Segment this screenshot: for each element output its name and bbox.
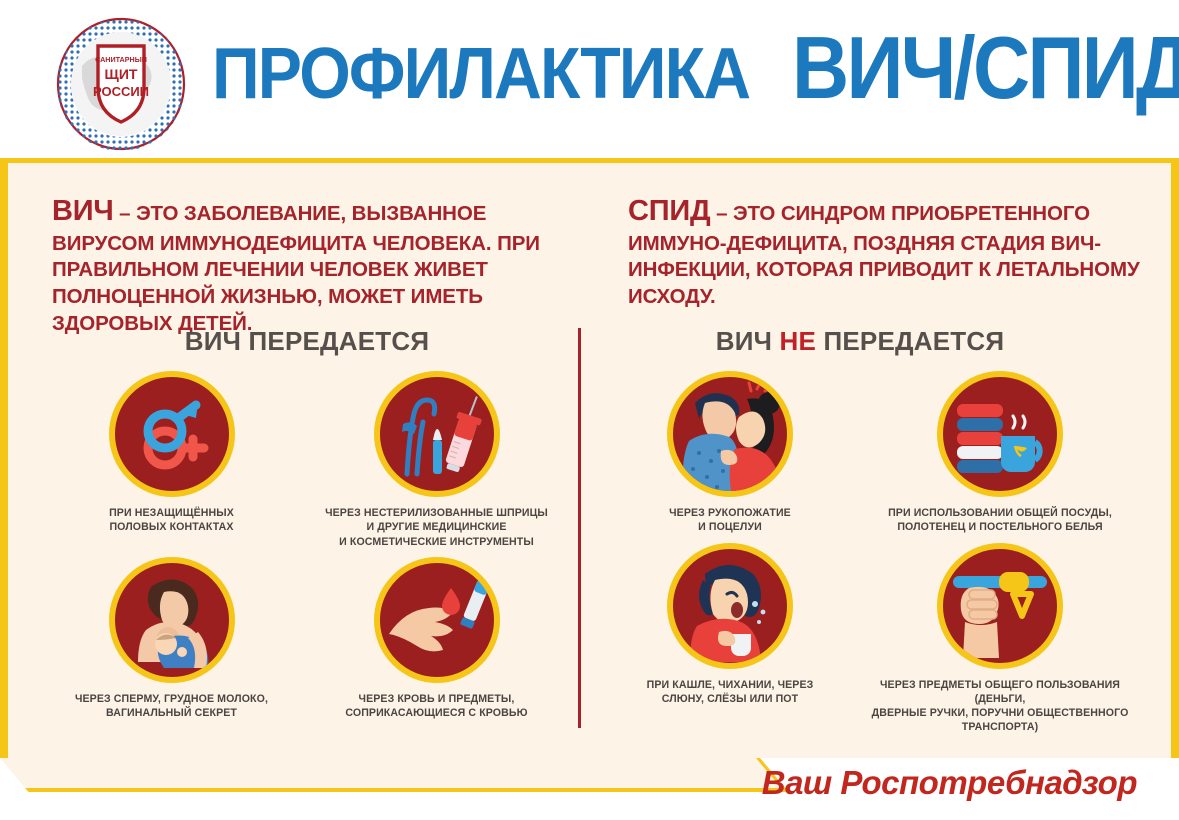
- list-item-caption: ПРИ ИСПОЛЬЗОВАНИИ ОБЩЕЙ ПОСУДЫ, ПОЛОТЕНЕ…: [888, 506, 1112, 535]
- svg-text:ЩИТ: ЩИТ: [105, 66, 138, 82]
- list-item: ЧЕРЕЗ СПЕРМУ, ГРУДНОЕ МОЛОКО, ВАГИНАЛЬНЫ…: [44, 557, 299, 721]
- transmitted-heading-label: ВИЧ ПЕРЕДАЕТСЯ: [185, 326, 429, 356]
- poster-footer: Ваш Роспотребнадзор: [0, 758, 1179, 820]
- medical-instruments-syringe-icon: [374, 371, 500, 497]
- list-item: ПРИ НЕЗАЩИЩЁННЫХ ПОЛОВЫХ КОНТАКТАХ: [44, 371, 299, 549]
- list-item-caption: ЧЕРЕЗ НЕСТЕРИЛИЗОВАННЫЕ ШПРИЦЫ И ДРУГИЕ …: [325, 506, 548, 549]
- page-title-part2: ВИЧ/СПИД: [792, 24, 1179, 112]
- breastfeeding-mother-icon: [109, 557, 235, 683]
- left-gold-bar: [0, 163, 8, 758]
- right-gold-bar: [1171, 163, 1179, 758]
- hiv-definition-text: – ЭТО ЗАБОЛЕВАНИЕ, ВЫЗВАННОЕ ВИРУСОМ ИММ…: [52, 202, 540, 335]
- not-transmitted-heading: ВИЧ НЕ ПЕРЕДАЕТСЯ: [600, 326, 1120, 357]
- not-transmitted-heading-before: ВИЧ: [716, 326, 780, 356]
- column-divider: [578, 328, 581, 728]
- hiv-definition: ВИЧ – ЭТО ЗАБОЛЕВАНИЕ, ВЫЗВАННОЕ ВИРУСОМ…: [52, 193, 572, 337]
- aids-definition-lead: СПИД: [628, 195, 711, 227]
- transmitted-items: ПРИ НЕЗАЩИЩЁННЫХ ПОЛОВЫХ КОНТАКТАХ: [44, 371, 564, 720]
- list-item-caption: ЧЕРЕЗ СПЕРМУ, ГРУДНОЕ МОЛОКО, ВАГИНАЛЬНЫ…: [75, 692, 268, 721]
- list-item-caption: ЧЕРЕЗ КРОВЬ И ПРЕДМЕТЫ, СОПРИКАСАЮЩИЕСЯ …: [345, 692, 527, 721]
- transmitted-heading: ВИЧ ПЕРЕДАЕТСЯ: [52, 326, 562, 357]
- dishes-towels-bedding-icon-cell: ПРИ ИСПОЛЬЗОВАНИИ ОБЩЕЙ ПОСУДЫ, ПОЛОТЕНЕ…: [870, 371, 1130, 535]
- poster-body: ВИЧ – ЭТО ЗАБОЛЕВАНИЕ, ВЫЗВАННОЕ ВИРУСОМ…: [0, 163, 1179, 758]
- svg-text:САНИТАРНЫЙ: САНИТАРНЫЙ: [95, 55, 147, 64]
- hiv-definition-lead: ВИЧ: [52, 195, 114, 227]
- aids-definition: СПИД – ЭТО СИНДРОМ ПРИОБРЕТЕННОГО ИММУНО…: [628, 193, 1148, 311]
- list-item: ЧЕРЕЗ КРОВЬ И ПРЕДМЕТЫ, СОПРИКАСАЮЩИЕСЯ …: [309, 557, 564, 721]
- not-transmitted-heading-after: ПЕРЕДАЕТСЯ: [816, 326, 1004, 356]
- gender-symbols-icon: [109, 371, 235, 497]
- list-item: ЧЕРЕЗ НЕСТЕРИЛИЗОВАННЫЕ ШПРИЦЫ И ДРУГИЕ …: [309, 371, 564, 549]
- blood-drop-lancet-icon: [374, 557, 500, 683]
- list-item-caption: ПРИ КАШЛЕ, ЧИХАНИИ, ЧЕРЕЗ СЛЮНУ, СЛЁЗЫ И…: [647, 678, 814, 707]
- page-title-part1: ПРОФИЛАКТИКА: [212, 38, 749, 110]
- poster-header: САНИТАРНЫЙ ЩИТ РОССИИ ПРОФИЛАКТИКАВИЧ/СП…: [0, 0, 1179, 160]
- list-item-caption: ЧЕРЕЗ РУКОПОЖАТИЕ И ПОЦЕЛУИ: [669, 506, 791, 535]
- list-item: ЧЕРЕЗ РУКОПОЖАТИЕ И ПОЦЕЛУИ: [600, 371, 860, 535]
- list-item-caption: ПРИ НЕЗАЩИЩЁННЫХ ПОЛОВЫХ КОНТАКТАХ: [109, 506, 234, 535]
- page-title: ПРОФИЛАКТИКАВИЧ/СПИД: [212, 24, 1179, 112]
- couple-kissing-icon: [667, 371, 793, 497]
- coughing-woman-icon: [667, 543, 793, 669]
- list-item-caption: ЧЕРЕЗ ПРЕДМЕТЫ ОБЩЕГО ПОЛЬЗОВАНИЯ (ДЕНЬГ…: [870, 678, 1130, 735]
- footer-signature: Ваш Роспотребнадзор: [762, 764, 1137, 802]
- svg-text:РОССИИ: РОССИИ: [93, 84, 149, 99]
- not-transmitted-heading-no: НЕ: [780, 326, 817, 356]
- dishes-towels-bedding-icon: [937, 371, 1063, 497]
- list-item: ЧЕРЕЗ ПРЕДМЕТЫ ОБЩЕГО ПОЛЬЗОВАНИЯ (ДЕНЬГ…: [870, 543, 1130, 735]
- footer-gold-shape: [0, 758, 789, 792]
- poster: САНИТАРНЫЙ ЩИТ РОССИИ ПРОФИЛАКТИКАВИЧ/СП…: [0, 0, 1179, 820]
- hand-holding-handrail-icon: [937, 543, 1063, 669]
- sanitary-shield-of-russia-logo: САНИТАРНЫЙ ЩИТ РОССИИ: [46, 14, 196, 154]
- list-item: ПРИ КАШЛЕ, ЧИХАНИИ, ЧЕРЕЗ СЛЮНУ, СЛЁЗЫ И…: [600, 543, 860, 735]
- not-transmitted-items: ЧЕРЕЗ РУКОПОЖАТИЕ И ПОЦЕЛУИ: [600, 371, 1130, 735]
